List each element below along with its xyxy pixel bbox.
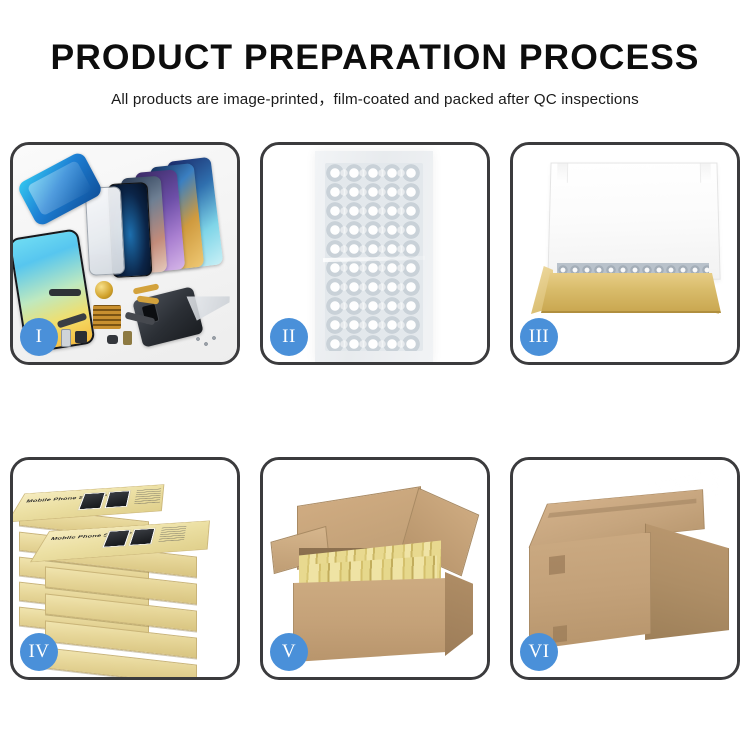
kraft-tray-front [541,273,721,313]
step-badge-2: II [270,318,308,356]
page-subtitle: All products are image-printed，film-coat… [0,77,750,109]
carton-side-face [445,572,473,656]
sealed-carton-side-face [645,516,729,640]
sim-tray-part [123,331,132,345]
bubble-wrap-sheet [315,151,433,362]
carton-tape-mark-upper [549,555,565,575]
circuit-board-part [93,305,121,329]
vibration-motor-part [107,335,118,344]
steps-grid: I II III [10,142,740,680]
header: PRODUCT PREPARATION PROCESS All products… [0,0,750,109]
speaker-part-icon [95,281,113,299]
box-print-spec-lines [134,489,161,505]
sealed-carton-front-face [529,532,651,650]
step-panel-4[interactable]: Mobile Phone Spare Parts Mobile Phone Sp… [10,457,240,680]
screws-icon [195,335,219,349]
step-badge-6: VI [520,633,558,671]
product-preparation-infographic: PRODUCT PREPARATION PROCESS All products… [0,0,750,750]
box-print-phone-image [128,528,157,547]
box-print-phone-image [104,490,132,509]
step-badge-3: III [520,318,558,356]
step-badge-1: I [20,318,58,356]
step-badge-4: IV [20,633,58,671]
flex-cable-part [49,289,81,296]
step-panel-6[interactable]: VI [510,457,740,680]
box-print-spec-lines [158,526,186,542]
step-panel-2[interactable]: II [260,142,490,365]
step-panel-1[interactable]: I [10,142,240,365]
step-panel-5[interactable]: V [260,457,490,680]
button-part [61,329,71,347]
step-panel-3[interactable]: III [510,142,740,365]
camera-module-part [75,331,87,343]
gold-flex-cable-part [133,283,160,294]
carton-front-face [293,578,448,662]
carton-tape-mark-lower [553,625,567,643]
page-title: PRODUCT PREPARATION PROCESS [0,0,750,77]
step-badge-5: V [270,633,308,671]
